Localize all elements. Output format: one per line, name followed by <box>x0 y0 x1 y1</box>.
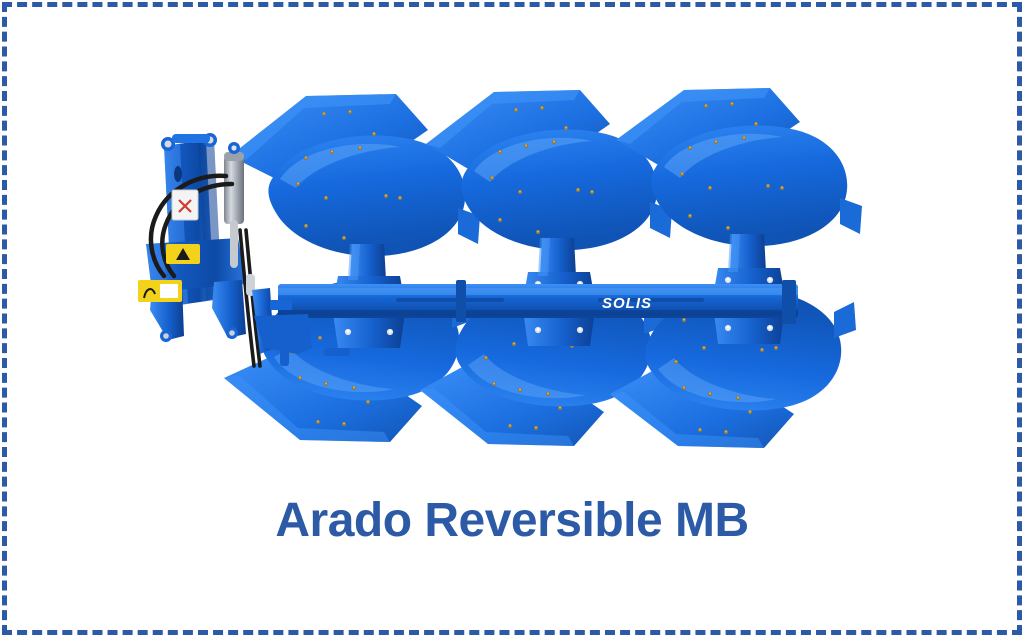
product-image: SOLIS <box>128 48 918 458</box>
page-title: Arado Reversible MB <box>8 496 1016 546</box>
plow-illustration: SOLIS <box>128 48 918 458</box>
no-standing-decal <box>138 280 182 302</box>
warning-triangle-decal <box>166 244 200 264</box>
brand-label: SOLIS <box>602 295 652 312</box>
product-card: SOLIS <box>0 0 1024 637</box>
main-beam: SOLIS <box>278 280 798 324</box>
card-content: SOLIS <box>8 8 1016 629</box>
moldboard-top-1 <box>230 94 480 256</box>
